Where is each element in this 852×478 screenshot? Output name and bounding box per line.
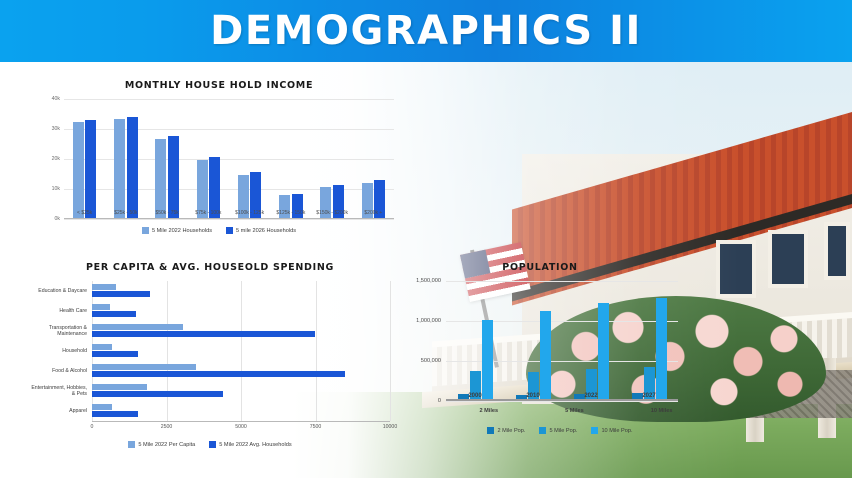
bar[interactable] <box>92 304 110 310</box>
bar[interactable] <box>92 331 315 337</box>
header-banner: DEMOGRAPHICS II <box>0 0 852 62</box>
category-label: Apparel <box>30 408 92 415</box>
bar[interactable] <box>598 303 609 399</box>
spending-x-axis: 025005000750010000 <box>92 421 390 435</box>
bar[interactable] <box>92 324 183 330</box>
x-axis-tick: 2010 <box>513 393 553 399</box>
x-axis-tick: 7500 <box>310 424 322 430</box>
gridline <box>64 219 394 220</box>
x-axis-tick: $100k - 125k <box>230 210 270 216</box>
legend-label: 5 mile 2026 Households <box>236 228 296 234</box>
bar[interactable] <box>92 384 147 390</box>
slide-canvas: DEMOGRAPHICS II MONTHLY HOUSE HOLD INCOM… <box>0 0 852 478</box>
bar-group[interactable] <box>191 157 225 218</box>
bar[interactable] <box>92 371 345 377</box>
population-x-axis-labels: 2000201020222027 <box>446 393 678 399</box>
bar[interactable] <box>168 136 179 218</box>
chart-title: MONTHLY HOUSE HOLD INCOME <box>34 80 404 91</box>
category-label: Household <box>30 348 92 355</box>
bar-group[interactable] <box>632 298 667 399</box>
bar[interactable] <box>92 404 112 410</box>
chart-population: POPULATION 0500,0001,000,0001,500,000 20… <box>390 262 690 467</box>
legend-swatch-icon <box>487 427 494 434</box>
bar-group[interactable] <box>68 120 102 218</box>
x-axis-tick: $125k - 150k <box>271 210 311 216</box>
page-title: DEMOGRAPHICS II <box>210 8 642 54</box>
x-axis-tick: $150k - $200k <box>312 210 352 216</box>
category-label: Entertainment, Hobbies, & Pets <box>30 385 92 398</box>
bar[interactable] <box>92 411 138 417</box>
legend-swatch-icon <box>226 227 233 234</box>
spending-legend: 5 Mile 2022 Per Capita5 Mile 2022 Avg. H… <box>30 441 390 448</box>
x-axis-tick: $50k - 75k <box>147 210 187 216</box>
legend-swatch-icon <box>142 227 149 234</box>
bar[interactable] <box>92 291 150 297</box>
bars-container <box>92 342 390 360</box>
bars-container <box>92 322 390 340</box>
spending-plot-area: Education & DaycareHealth CareTransporta… <box>30 281 390 421</box>
bar-row[interactable]: Health Care <box>30 301 390 321</box>
legend-item[interactable]: 10 Mile Pop. <box>591 427 632 434</box>
legend-swatch-icon <box>209 441 216 448</box>
bar[interactable] <box>92 311 136 317</box>
y-axis-tick: 10k <box>52 186 60 192</box>
y-axis-tick: 40k <box>52 96 60 102</box>
legend-label: 5 Mile 2022 Households <box>152 228 212 234</box>
bar-row[interactable]: Transportation & Maintenance <box>30 321 390 341</box>
chart-per-capita-spending: PER CAPITA & AVG. HOUSEOLD SPENDING Educ… <box>30 262 390 467</box>
bar[interactable] <box>73 122 84 218</box>
bar-group[interactable] <box>574 303 609 399</box>
category-label: Education & Daycare <box>30 288 92 295</box>
population-bar-groups <box>446 281 678 399</box>
category-label: Transportation & Maintenance <box>30 325 92 338</box>
bar[interactable] <box>92 284 116 290</box>
legend-swatch-icon <box>128 441 135 448</box>
legend-item[interactable]: 5 Mile 2022 Avg. Households <box>209 441 291 448</box>
bar[interactable] <box>85 120 96 218</box>
spending-rows: Education & DaycareHealth CareTransporta… <box>30 281 390 421</box>
bar[interactable] <box>540 311 551 399</box>
radius-label: 10 Miles <box>651 408 673 414</box>
legend-item[interactable]: 5 Mile 2022 Households <box>142 227 212 234</box>
y-axis-tick: 0 <box>438 398 441 404</box>
bar[interactable] <box>114 119 125 218</box>
y-axis-tick: 20k <box>52 156 60 162</box>
bar[interactable] <box>127 117 138 218</box>
bar-row[interactable]: Education & Daycare <box>30 281 390 301</box>
x-axis-tick: $200k + <box>353 210 393 216</box>
bar[interactable] <box>209 157 220 218</box>
bar[interactable] <box>482 320 493 399</box>
x-axis-tick: 2022 <box>571 393 611 399</box>
bar[interactable] <box>92 391 223 397</box>
chart-title: POPULATION <box>390 262 690 273</box>
bar-row[interactable]: Apparel <box>30 401 390 421</box>
bar-group[interactable] <box>109 117 143 218</box>
bar-group[interactable] <box>458 320 493 399</box>
bars-container <box>92 282 390 300</box>
legend-label: 5 Mile Pop. <box>549 428 577 434</box>
bar[interactable] <box>92 364 196 370</box>
bar[interactable] <box>92 351 138 357</box>
bar[interactable] <box>155 139 166 218</box>
bar-group[interactable] <box>150 136 184 218</box>
radius-label: 2 Miles <box>479 408 498 414</box>
income-bar-groups <box>64 99 394 218</box>
radius-label: 5 Miles <box>565 408 584 414</box>
bar-row[interactable]: Household <box>30 341 390 361</box>
population-legend: 2 Mile Pop.5 Mile Pop.10 Mile Pop. <box>430 427 690 434</box>
chart-monthly-household-income: MONTHLY HOUSE HOLD INCOME 0k10k20k30k40k… <box>34 80 404 250</box>
y-axis-tick: 1,000,000 <box>416 318 441 324</box>
income-legend: 5 Mile 2022 Households5 mile 2026 Househ… <box>34 227 404 234</box>
legend-swatch-icon <box>591 427 598 434</box>
bars-container <box>92 302 390 320</box>
bars-container <box>92 382 390 400</box>
chart-title: PER CAPITA & AVG. HOUSEOLD SPENDING <box>30 262 390 273</box>
legend-item[interactable]: 2 Mile Pop. <box>487 427 525 434</box>
bar[interactable] <box>656 298 667 399</box>
x-axis-tick: $75k - 100k <box>188 210 228 216</box>
category-label: Food & Alcohol <box>30 368 92 375</box>
bars-container <box>92 402 390 420</box>
bars-container <box>92 362 390 380</box>
bar-group[interactable] <box>516 311 551 399</box>
legend-swatch-icon <box>539 427 546 434</box>
income-x-axis-labels: < $25k$25k - 50k$50k - 75k$75k - 100k$10… <box>64 210 394 216</box>
x-axis-tick: 2000 <box>455 393 495 399</box>
legend-item[interactable]: 5 Mile 2022 Per Capita <box>128 441 195 448</box>
legend-label: 2 Mile Pop. <box>497 428 525 434</box>
legend-label: 10 Mile Pop. <box>601 428 632 434</box>
x-axis-tick: < $25k <box>65 210 105 216</box>
x-axis-tick: 2027 <box>629 393 669 399</box>
legend-item[interactable]: 5 Mile Pop. <box>539 427 577 434</box>
income-plot-area: 0k10k20k30k40k <box>64 99 394 219</box>
legend-item[interactable]: 5 mile 2026 Households <box>226 227 296 234</box>
x-axis-tick: 2500 <box>161 424 173 430</box>
bar[interactable] <box>92 344 112 350</box>
y-axis-tick: 1,500,000 <box>416 278 441 284</box>
population-radius-labels: 2 Miles5 Miles10 Miles <box>446 408 706 414</box>
y-axis-tick: 0k <box>55 216 60 222</box>
y-axis-tick: 500,000 <box>421 358 441 364</box>
y-axis-tick: 30k <box>52 126 60 132</box>
category-label: Health Care <box>30 308 92 315</box>
x-axis-tick: 5000 <box>235 424 247 430</box>
x-axis-tick: $25k - 50k <box>106 210 146 216</box>
legend-label: 5 Mile 2022 Avg. Households <box>219 442 291 448</box>
population-plot-area: 0500,0001,000,0001,500,000 <box>446 281 678 401</box>
x-axis-tick: 0 <box>91 424 94 430</box>
bar-row[interactable]: Food & Alcohol <box>30 361 390 381</box>
gridline <box>446 401 678 402</box>
legend-label: 5 Mile 2022 Per Capita <box>138 442 195 448</box>
bar-row[interactable]: Entertainment, Hobbies, & Pets <box>30 381 390 401</box>
